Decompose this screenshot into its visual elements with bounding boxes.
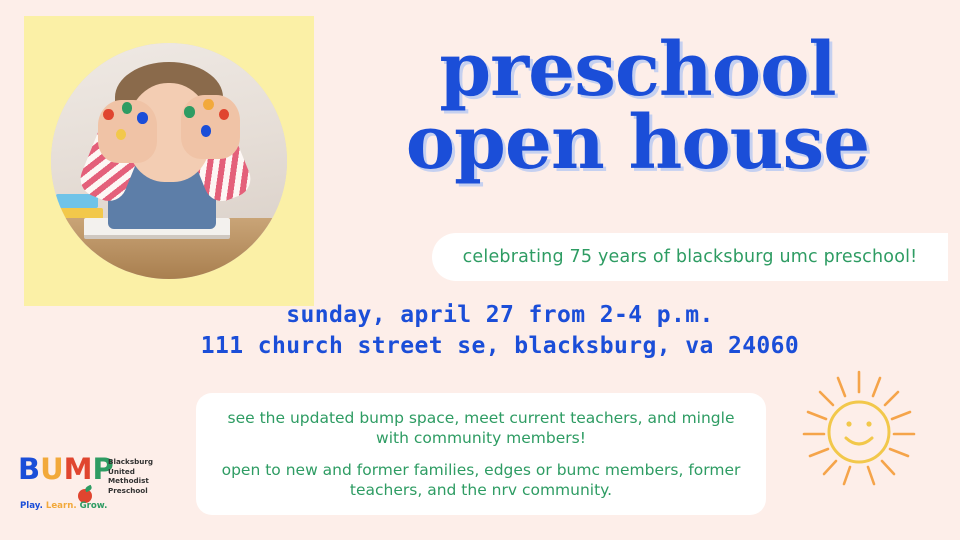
logo-tagline-grow: Grow.: [80, 501, 108, 511]
photo-frame: [24, 16, 314, 306]
bump-logo: BUMP Blacksburg United Methodist Prescho…: [18, 455, 188, 520]
sun-doodle-icon: [794, 366, 924, 496]
logo-org-line-2: United: [108, 467, 153, 477]
info-card-paragraph-1: see the updated bump space, meet current…: [214, 408, 748, 448]
logo-letter-m: M: [64, 455, 93, 484]
headline-line-2: open house: [330, 107, 945, 180]
logo-tagline: Play. Learn. Grow.: [20, 501, 107, 511]
logo-org-name: Blacksburg United Methodist Preschool: [108, 457, 153, 496]
page-title: preschool open house: [330, 34, 945, 181]
event-date-line: sunday, april 27 from 2-4 p.m.: [160, 300, 840, 331]
logo-tagline-play: Play.: [20, 501, 43, 511]
celebration-banner-text: celebrating 75 years of blacksburg umc p…: [463, 247, 918, 267]
logo-tagline-learn: Learn.: [46, 501, 77, 511]
logo-org-line-1: Blacksburg: [108, 457, 153, 467]
logo-letter-u: U: [40, 455, 64, 484]
event-address-line: 111 church street se, blacksburg, va 240…: [160, 331, 840, 362]
bump-logo-letters: BUMP: [18, 455, 114, 484]
headline-line-1: preschool: [330, 34, 945, 107]
child-photo: [51, 43, 287, 279]
info-card-paragraph-2: open to new and former families, edges o…: [214, 460, 748, 500]
apple-leaf-icon: [84, 485, 92, 492]
logo-org-line-4: Preschool: [108, 486, 153, 496]
poster-canvas: preschool open house celebrating 75 year…: [0, 0, 960, 540]
info-card: see the updated bump space, meet current…: [196, 393, 766, 515]
celebration-banner: celebrating 75 years of blacksburg umc p…: [432, 233, 948, 281]
logo-org-line-3: Methodist: [108, 476, 153, 486]
event-details: sunday, april 27 from 2-4 p.m. 111 churc…: [160, 300, 840, 362]
logo-letter-b: B: [18, 455, 40, 484]
